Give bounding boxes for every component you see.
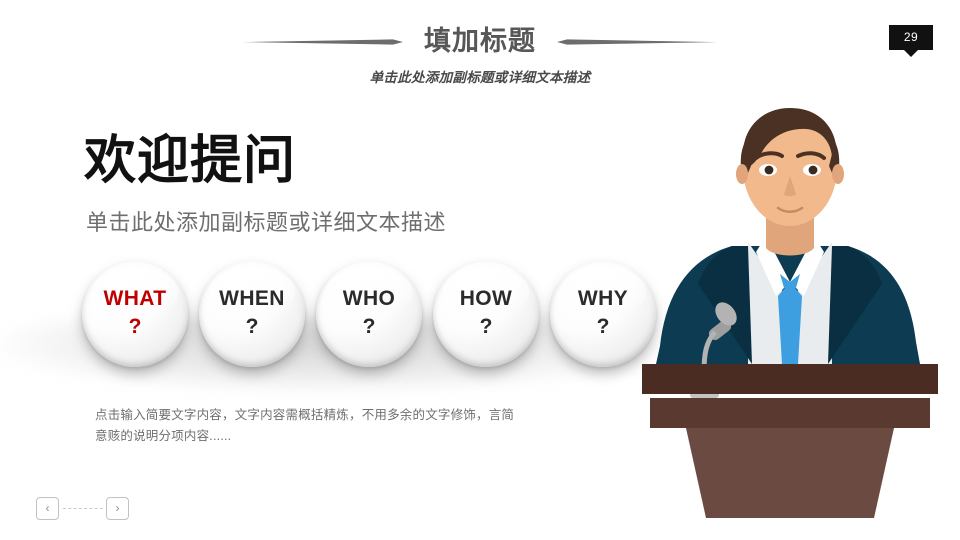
- question-circle-mark: ?: [433, 315, 539, 339]
- next-slide-button[interactable]: ›: [106, 497, 129, 520]
- slide-navigation: ‹ ›: [36, 497, 146, 521]
- pupil-left: [765, 166, 774, 175]
- header-subtitle: 单击此处添加副标题或详细文本描述: [0, 66, 960, 86]
- question-circle-how[interactable]: HOW ?: [433, 261, 539, 367]
- question-circle-word: WHO: [316, 287, 422, 311]
- chevron-left-icon: ‹: [46, 501, 50, 515]
- podium-top-bar: [642, 364, 938, 394]
- prev-slide-button[interactable]: ‹: [36, 497, 59, 520]
- question-circle-row: WHAT ? WHEN ? WHO ? HOW ? WHY ?: [78, 258, 678, 374]
- ear-right: [832, 164, 844, 184]
- slide-header: 填加标题 单击此处添加副标题或详细文本描述: [0, 22, 960, 62]
- nav-dashed-connector: [63, 508, 103, 509]
- question-circle-when[interactable]: WHEN ?: [199, 261, 305, 367]
- chevron-right-icon: ›: [116, 501, 120, 515]
- question-circle-word: WHY: [550, 287, 656, 311]
- question-circle-mark: ?: [199, 315, 305, 339]
- page-title: 填加标题: [0, 22, 960, 60]
- question-circle-mark: ?: [550, 315, 656, 339]
- head-group: [736, 108, 844, 226]
- podium-mid-bar: [650, 398, 930, 428]
- main-headline: 欢迎提问: [84, 132, 296, 190]
- presentation-slide: 29 填加标题 单击此处添加副标题或详细文本描述 欢迎提问 单击此处添加副标题或…: [0, 0, 960, 540]
- podium: [642, 364, 938, 518]
- question-circle-mark: ?: [316, 315, 422, 339]
- question-circle-who[interactable]: WHO ?: [316, 261, 422, 367]
- question-circle-word: HOW: [433, 287, 539, 311]
- main-sub-headline: 单击此处添加副标题或详细文本描述: [86, 208, 446, 238]
- arrow-left-taper-icon: [557, 39, 717, 45]
- question-circle-what[interactable]: WHAT ?: [82, 261, 188, 367]
- podium-body: [686, 428, 894, 518]
- necktie: [778, 282, 802, 364]
- body-paragraph: 点击输入简要文字内容，文字内容需概括精炼，不用多余的文字修饰，言简意赅的说明分项…: [95, 405, 515, 447]
- question-circle-word: WHEN: [199, 287, 305, 311]
- question-circle-mark: ?: [82, 315, 188, 339]
- ear-left: [736, 164, 748, 184]
- pupil-right: [809, 166, 818, 175]
- businessman-at-podium-illustration: [620, 96, 960, 526]
- header-title-row: 填加标题: [0, 22, 960, 62]
- question-circle-word: WHAT: [82, 287, 188, 311]
